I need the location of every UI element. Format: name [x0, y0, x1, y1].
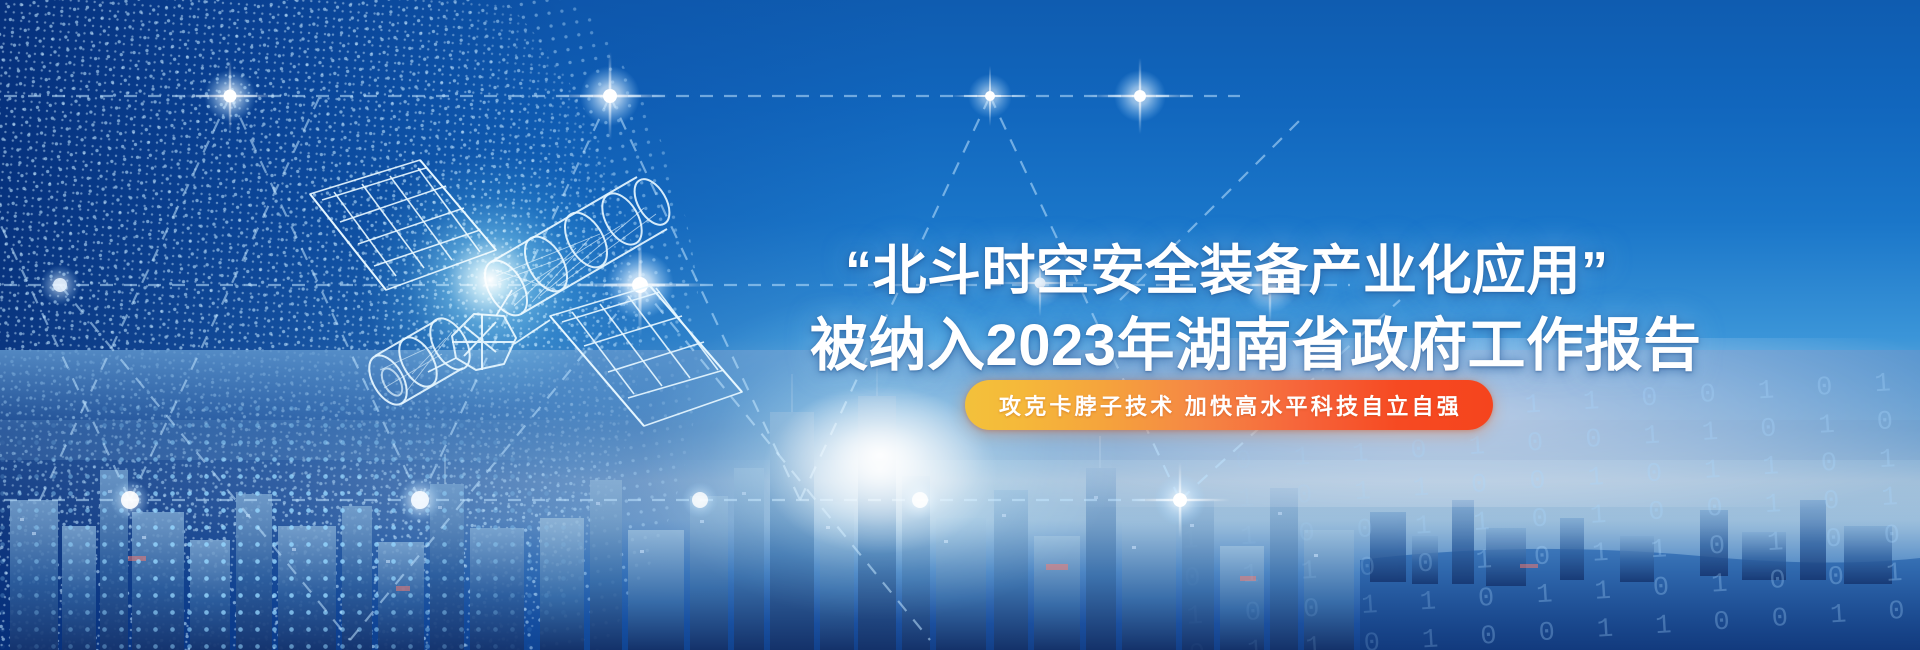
- slogan-badge-label: 攻克卡脖子技术 加快高水平科技自立自强: [996, 389, 1462, 421]
- headline-line-2: 被纳入2023年湖南省政府工作报告: [810, 298, 1702, 382]
- headline-line-1: “北斗时空安全装备产业化应用”: [845, 226, 1609, 305]
- banner-hero: 0 1 0 0 1 0 1 1 0 0 1 0 1 0 0 1 1 0 1 0 …: [0, 0, 1920, 650]
- slogan-badge[interactable]: 攻克卡脖子技术 加快高水平科技自立自强: [965, 380, 1493, 430]
